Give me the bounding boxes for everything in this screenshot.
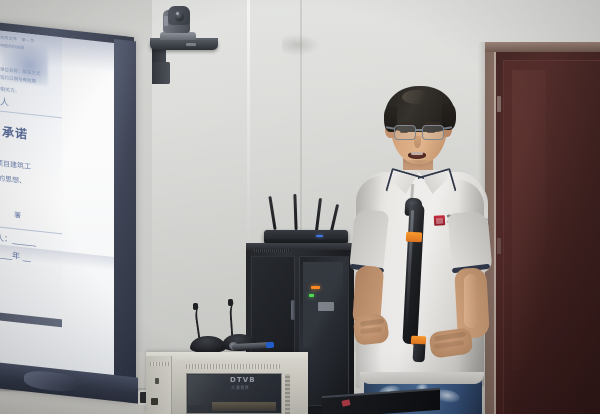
handheld-mic-band-upper [406,232,423,243]
rack-status-led-icon [309,294,314,297]
document-heading: 承诺 [2,123,28,143]
server-cabinet-lock-icon[interactable] [155,378,159,384]
presenter-nose [414,136,421,148]
gooseneck-mic-neck-2 [229,302,246,337]
server-cabinet-brand-subtext: 大通视界 [231,385,249,391]
conference-room-photo: 合同文件 第一页 申报资料说明 单位名称、联系方式 签约日期与有效期 相关方、 … [0,0,600,414]
server-cabinet-vent-left [150,362,170,366]
camera-shelf [150,40,218,50]
camera-lens-glint [176,12,179,15]
glasses-bridge [415,129,423,131]
server-cabinet-seam [171,356,172,414]
polo-shirt-hem [360,372,484,384]
gooseneck-mic-base-1[interactable] [190,336,226,353]
document-rule-upper [0,110,62,118]
wall-display[interactable]: 合同文件 第一页 申报资料说明 单位名称、联系方式 签约日期与有效期 相关方、 … [0,22,134,399]
camera-wall-mount [152,62,170,84]
glasses-lens-right [422,125,444,140]
camera-badge [186,43,196,46]
presenter-chin-shade [404,160,432,168]
equipment-rack-vent [254,249,290,252]
logo-badge-mark [436,218,443,223]
gooseneck-mic-capsule-1 [193,303,198,310]
display-right-edge [114,39,136,393]
presenter: 中国建筑 CHINA CONSTRUCTION [330,80,530,414]
camera-vent [164,16,168,26]
document-body-line-2: 的思想、 [0,173,26,186]
document-person-label: 人 [0,95,9,109]
document-body-line-1: 项目建筑工 [0,158,31,172]
handheld-mic-tail [413,344,426,363]
equipment-rack-handle[interactable] [291,300,295,320]
server-cabinet-mount-rail [285,374,290,414]
gooseneck-mic-capsule-2 [228,299,233,306]
wall-scuff-mark [282,34,320,56]
presenter-hair-sheen [402,90,432,104]
server-cabinet-brand-text: DTVB [230,376,256,384]
glasses-lens-left [394,125,416,140]
document-tiny-line-5: 相关方、 [0,86,20,95]
server-cabinet-cutout [151,398,158,405]
server-cabinet-glass-sheen [188,375,228,405]
camera-base-plate [160,32,196,40]
projected-document: 合同文件 第一页 申报资料说明 单位名称、联系方式 签约日期与有效期 相关方、 … [0,30,62,327]
presenter-teeth [411,152,423,155]
logo-badge-icon [434,215,446,226]
document-signature-prefix: 署 [14,210,21,221]
arm-highlight-right [464,274,478,328]
server-cabinet-vent-top [186,364,280,369]
door-frame-header [485,42,600,52]
rack-power-led-icon [311,286,320,289]
resting-mic-band [266,342,274,348]
router-status-led-icon [316,235,323,237]
